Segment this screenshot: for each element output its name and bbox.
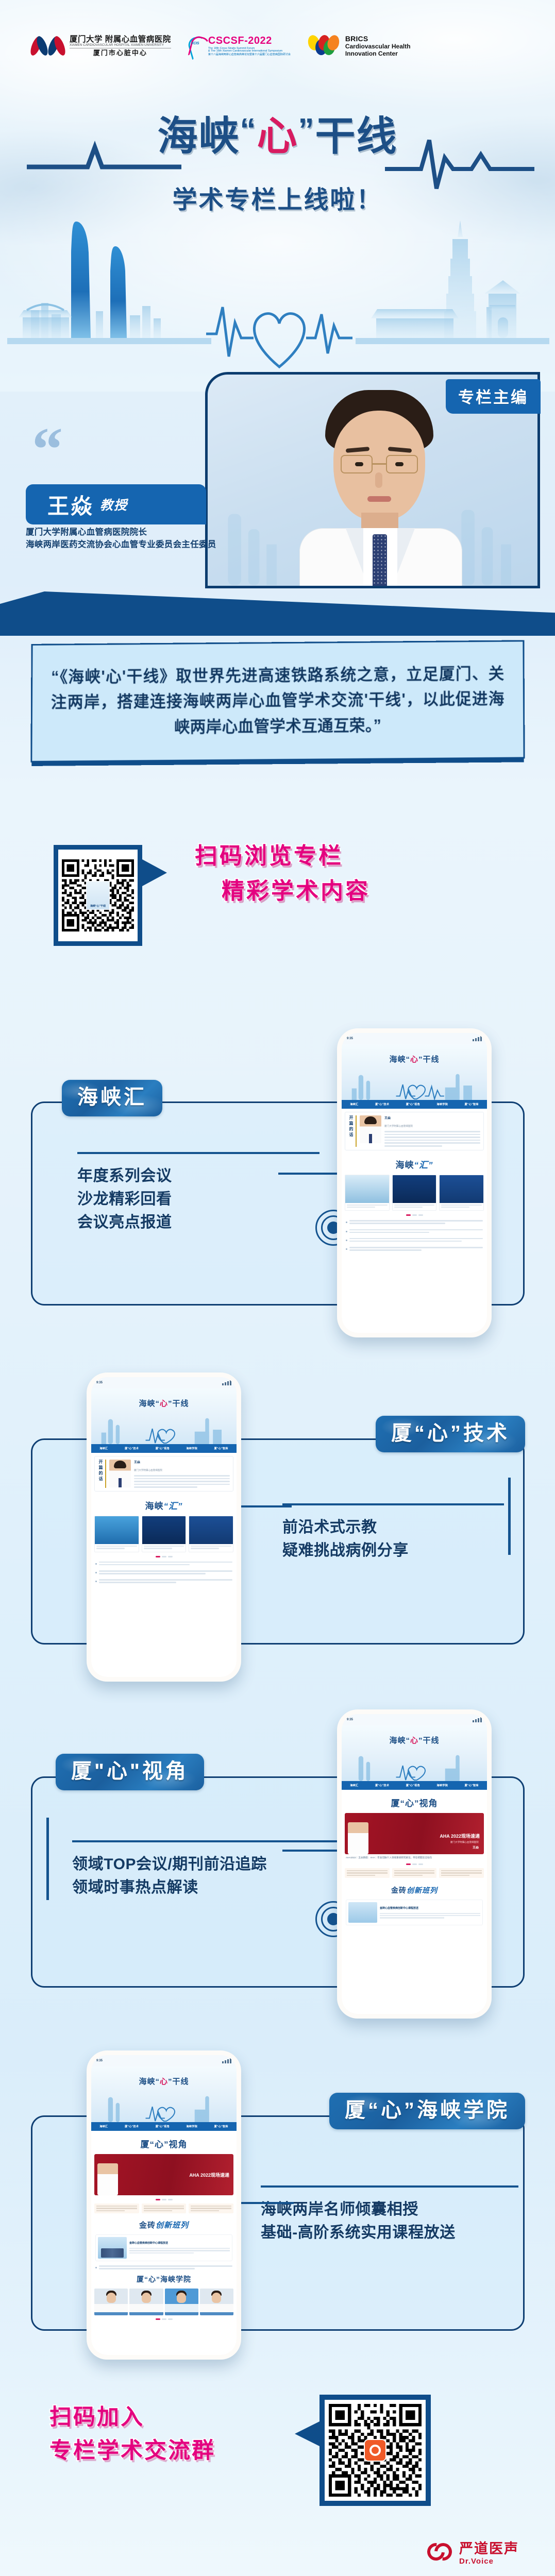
brics-logo-text: BRICS Cardiovascular Health Innovation C… (345, 35, 411, 58)
phone-mini-card-3-1[interactable] (392, 1868, 437, 1878)
phone-nav-item-4-0[interactable]: 海峡汇 (99, 2125, 108, 2128)
phone-card-tag-2: 开篇的话 (98, 1460, 106, 1488)
phone-banner-figure-4 (97, 2163, 118, 2195)
phone-app-title-3: 海峡“心”干线 (342, 1735, 487, 1745)
phone-banner-title-4: AHA 2022现场速递 (189, 2172, 229, 2178)
phone-status-bar-2: 9:35 (91, 1377, 237, 1388)
drvoice-name-en: Dr.Voice (459, 2557, 519, 2566)
cscsf-logo-text: CSCSF-2022 The 18th Cross Straits Summit… (208, 36, 291, 57)
phone-list-item-2-0[interactable] (95, 1562, 232, 1567)
phone-mockup-2: 9:35 海峡“心”干线 海峡汇 厦“心”技术 厦“心”视角 海峡学院 厦“心”… (87, 1372, 241, 1682)
qr-callout-arrow (142, 859, 167, 886)
phone-section-title-2: 海峡“汇” (91, 1499, 237, 1512)
phone-course-card-4[interactable]: 金砖心血管疾病创新中心课程放送 (95, 2234, 232, 2261)
cscsf-title: CSCSF-2022 (208, 36, 291, 46)
phone-section-title-1: 海峡“汇” (342, 1158, 487, 1171)
editor-credential-2: 海峡两岸医药交流协会心血管专业委员会主任委员 (26, 539, 216, 551)
phone-teacher-row-4[interactable] (91, 2289, 237, 2315)
cscsf-heart-icon: XCIS (189, 36, 206, 56)
phone-nav-item-1-0[interactable]: 海峡汇 (350, 1103, 358, 1106)
phone-signal-icon-2 (222, 1380, 231, 1385)
phone-banner-title-3: AHA 2022现场速递 (440, 1833, 480, 1839)
skyline-illustration (0, 216, 555, 371)
phone-card-tag-1: 开篇的话 (348, 1115, 357, 1147)
decorative-quote-mark: “ (32, 428, 63, 471)
xiamen-skyline-group (7, 222, 211, 344)
phone-teacher-0[interactable] (94, 2289, 128, 2315)
footer: 严道医声 Dr.Voice (0, 2540, 555, 2567)
join-cta-line1: 扫码加入 (49, 2401, 215, 2434)
phone-card-row-4[interactable] (91, 2204, 237, 2213)
phone-skyline-4 (91, 2093, 237, 2122)
join-group-qr-block[interactable] (319, 2395, 431, 2506)
phone-nav-item-4-3[interactable]: 海峡学院 (186, 2125, 197, 2128)
phone-signal-icon-4 (222, 2058, 231, 2063)
phone-app-title-1: 海峡“心”干线 (342, 1054, 487, 1064)
phone-banner-caption-3: AHA2022｜王焱教授：AHA｜年会冠脉介入领域重磅研究解读，带您把握前沿动向 (346, 1856, 483, 1860)
phone-academy-title-4: 厦“心”海峡学院 (91, 2274, 237, 2284)
xcis-badge: XCIS (191, 42, 199, 45)
feature-2-bullet-2: 疑难挑战病例分享 (282, 1539, 504, 1562)
feature-bullets-4: 海峡两岸名师倾囊相授 基础-高阶系统实用课程放送 (261, 2185, 518, 2244)
phone-nav-item-2-2[interactable]: 厦“心”视角 (156, 1447, 170, 1450)
editor-credential-1: 厦门大学附属心血管病医院院长 (26, 527, 216, 539)
phone-teacher-3[interactable] (200, 2289, 233, 2315)
editor-name-plate: 王焱 教授 (26, 484, 206, 524)
scan-browse-cta: 扫码浏览专栏 精彩学术内容 (195, 839, 370, 909)
scan-browse-line1: 扫码浏览专栏 (195, 839, 370, 874)
editor-name: 王焱 (47, 489, 94, 520)
ecg-line-left-icon (27, 137, 181, 173)
brics-petals-icon (308, 35, 340, 57)
brics-line1: BRICS (345, 35, 411, 43)
phone-list-item-2-1[interactable] (95, 1570, 232, 1575)
taipei-skyline-group (356, 221, 549, 344)
phone-status-bar-4: 9:35 (91, 2055, 237, 2066)
hospital-sub-name: 厦门市心脏中心 (70, 49, 171, 57)
feature-2-bullet-1: 前沿术式示教 (282, 1516, 504, 1539)
browse-column-qr-block[interactable]: 海峡“心”干线 (54, 845, 142, 946)
phone-banner-4[interactable]: AHA 2022现场速递 (94, 2154, 233, 2195)
phone-grid-2[interactable] (91, 1516, 237, 1552)
phone-mockup-1: 9:35 海峡“心”干线 海峡汇 厦“心”技术 厦“心”视角 海峡学院 厦“心”… (337, 1028, 492, 1337)
mission-quote-card: “《海峡'心'干线》取世界先进高速铁路系统之意，立足厦门、关注两岸，搭建连接海峡… (30, 640, 525, 762)
phone-mini-card-3-0[interactable] (345, 1868, 390, 1878)
header-logo-row: 厦门大学 附属心血管病医院 XIAMEN CARDIOVASCULAR HOSP… (0, 23, 555, 69)
phone-article-list-2[interactable] (91, 1557, 237, 1585)
feature-rule-4 (261, 2185, 518, 2188)
phone-screen-4: 9:35 海峡“心”干线 海峡汇 厦“心”技术 厦“心”视角 海峡学院 厦“心”… (91, 2055, 237, 2355)
phone-header-3: 海峡“心”干线 (342, 1725, 487, 1781)
phone-list-item-4-0[interactable] (95, 2265, 232, 2270)
editor-credentials: 厦门大学附属心血管病医院院长 海峡两岸医药交流协会心血管专业委员会主任委员 (26, 527, 216, 551)
phone-mini-card-4-1[interactable] (142, 2204, 187, 2213)
drvoice-name-cn: 严道医声 (459, 2541, 519, 2557)
editor-title: 教授 (100, 495, 128, 514)
phone-list-item-1-2[interactable] (346, 1238, 483, 1243)
phone-nav-item-1-1[interactable]: 厦“心”技术 (375, 1103, 389, 1106)
phone-list-item-1-3[interactable] (346, 1247, 483, 1252)
phone-screen-3: 9:35 海峡“心”干线 海峡汇 厦“心”技术 厦“心”视角 海峡学院 厦“心”… (342, 1714, 487, 2014)
phone-status-time-4: 9:35 (96, 2059, 103, 2062)
drvoice-logo: 严道医声 Dr.Voice (426, 2540, 519, 2567)
phone-nav-item-2-1[interactable]: 厦“心”技术 (125, 1447, 139, 1450)
editor-portrait (295, 390, 465, 588)
feature-chip-1[interactable]: 海峡汇 (62, 1080, 162, 1116)
hero-quote-open: “ (240, 112, 257, 148)
phone-nav-bar-3[interactable]: 海峡汇 厦“心”技术 厦“心”视角 海峡学院 厦“心”智库 (342, 1781, 487, 1790)
mission-quote-text: “《海峡'心'干线》取世界先进高速铁路系统之意，立足厦门、关注两岸，搭建连接海峡… (51, 662, 505, 741)
phone-nav-item-3-1[interactable]: 厦“心”技术 (375, 1784, 389, 1787)
phone-grid-item-2-2[interactable] (189, 1516, 233, 1552)
phone-header-1: 海峡“心”干线 (342, 1044, 487, 1100)
hospital-logo-icon (31, 35, 66, 57)
phone-grid-item-1-2[interactable] (439, 1175, 484, 1211)
phone-banner-figure-3 (348, 1822, 368, 1854)
join-group-cta: 扫码加入 专栏学术交流群 (49, 2401, 215, 2467)
qr-center-brand-chip: 海峡“心”干线 (86, 881, 110, 910)
browse-qr-frame[interactable]: 海峡“心”干线 (54, 845, 142, 946)
phone-nav-item-3-0[interactable]: 海峡汇 (350, 1784, 358, 1787)
phone-status-bar-1: 9:35 (342, 1033, 487, 1044)
join-cta-line2: 专栏学术交流群 (49, 2434, 215, 2468)
phone-nav-item-1-4[interactable]: 厦“心”智库 (465, 1103, 479, 1106)
phone-carousel-dots-4[interactable] (91, 2199, 237, 2200)
phone-section-title-3: 厦“心”视角 (342, 1796, 487, 1809)
cscsf-line2: & The 16th Xiamen Cardiovascular Interna… (208, 50, 291, 53)
phone-list-item-1-0[interactable] (346, 1220, 483, 1225)
phone-teacher-2[interactable] (165, 2289, 198, 2315)
feature-chip-4[interactable]: 厦“心”海峡学院 (329, 2093, 525, 2129)
phone-banner-3[interactable]: AHA 2022现场速递 厦门大学附属心血管病医院 王焱 (345, 1813, 484, 1854)
phone-section-title-4: 厦“心”视角 (91, 2137, 237, 2150)
hospital-name-cn: 厦门大学 附属心血管病医院 (70, 36, 171, 44)
drvoice-logo-text: 严道医声 Dr.Voice (459, 2541, 519, 2566)
phone-nav-item-3-4[interactable]: 厦“心”智库 (465, 1784, 479, 1787)
phone-intro-card-1[interactable]: 开篇的话 王焱 厦门大学附属心血管病医院 (345, 1112, 484, 1150)
heart-ecg-icon (206, 307, 352, 367)
drvoice-mark-icon (426, 2540, 453, 2567)
phone-carousel-dots-3[interactable] (342, 1863, 487, 1865)
phone-status-time-2: 9:35 (96, 1381, 103, 1384)
phone-header-4: 海峡“心”干线 (91, 2066, 237, 2122)
phone-article-list-4[interactable] (91, 2263, 237, 2270)
hero-quote-close: ” (298, 112, 315, 148)
scan-browse-line2: 精彩学术内容 (222, 874, 370, 909)
phone-skyline-1 (342, 1071, 487, 1100)
phone-mini-card-4-0[interactable] (94, 2204, 139, 2213)
phone-course-card-title-4: 金砖心血管疾病创新中心课程放送 (129, 2242, 168, 2245)
feature-4-bullet-2: 基础-高阶系统实用课程放送 (261, 2221, 518, 2244)
feature-4-bullet-1: 海峡两岸名师倾囊相授 (261, 2198, 518, 2221)
browse-qr-code[interactable]: 海峡“心”干线 (58, 850, 138, 941)
join-qr-frame[interactable] (319, 2395, 431, 2506)
phone-status-bar-3: 9:35 (342, 1714, 487, 1725)
phone-course-title-4: 金砖创新班列 (91, 2219, 237, 2230)
phone-card-avatar-2 (109, 1460, 131, 1487)
phone-banner-sub2-3: 王焱 (473, 1845, 479, 1850)
phone-nav-bar-1[interactable]: 海峡汇 厦“心”技术 厦“心”视角 海峡学院 厦“心”智库 (342, 1100, 487, 1109)
phone-app-title-4: 海峡“心”干线 (91, 2076, 237, 2087)
phone-list-item-1-1[interactable] (346, 1229, 483, 1234)
phone-card-name-2: 王焱 (134, 1460, 230, 1464)
phone-nav-item-2-3[interactable]: 海峡学院 (186, 1447, 197, 1450)
hospital-name-en: XIAMEN CARDIOVASCULAR HOSPITAL XIAMEN UN… (70, 44, 171, 48)
diagonal-blue-band (0, 591, 555, 636)
phone-card-row-3[interactable] (342, 1868, 487, 1878)
phone-mini-card-4-2[interactable] (189, 2204, 233, 2213)
phone-app-title-2: 海峡“心”干线 (91, 1398, 237, 1409)
phone-card-text-2: 王焱 厦门大学附属心血管病医院 (134, 1460, 230, 1488)
cscsf-2022-logo: XCIS CSCSF-2022 The 18th Cross Straits S… (189, 36, 291, 57)
feature-chip-2[interactable]: 厦“心”技术 (376, 1416, 525, 1452)
feature-vertical-bar-2 (508, 1478, 511, 1555)
cscsf-line3: 第十八届海峡两岸心血管病高峰论坛暨第十六届厦门心血管病国际研讨会 (208, 54, 291, 56)
phone-signal-icon-3 (473, 1717, 482, 1722)
feature-3-bullet-2: 领域时事热点解读 (72, 1876, 361, 1899)
join-qr-callout-arrow (295, 2421, 319, 2446)
phone-course-title-3: 金砖创新班列 (342, 1885, 487, 1895)
phone-mockup-3: 9:35 海峡“心”干线 海峡汇 厦“心”技术 厦“心”视角 海峡学院 厦“心”… (337, 1709, 492, 2019)
phone-header-2: 海峡“心”干线 (91, 1388, 237, 1444)
phone-skyline-3 (342, 1752, 487, 1781)
phone-grid-item-1-1[interactable] (392, 1175, 437, 1211)
feature-1-bullet-3: 会议亮点报道 (77, 1211, 319, 1234)
phone-banner-sub1-3: 厦门大学附属心血管病医院 (450, 1841, 479, 1844)
phone-screen-2: 9:35 海峡“心”干线 海峡汇 厦“心”技术 厦“心”视角 海峡学院 厦“心”… (91, 1377, 237, 1677)
phone-nav-item-1-2[interactable]: 厦“心”视角 (406, 1103, 420, 1106)
phone-card-avatar-1 (360, 1115, 381, 1143)
feature-vertical-bar-3 (46, 1818, 49, 1900)
phone-skyline-2 (91, 1415, 237, 1444)
phone-nav-item-1-3[interactable]: 海峡学院 (436, 1103, 448, 1106)
brics-cardiovascular-health-innovation-center-logo: BRICS Cardiovascular Health Innovation C… (308, 35, 411, 58)
phone-signal-icon-1 (473, 1036, 482, 1041)
phone-nav-item-4-2[interactable]: 厦“心”视角 (156, 2125, 170, 2128)
feature-chip-3[interactable]: 厦"心"视角 (56, 1754, 204, 1790)
phone-course-card-3[interactable]: 金砖心血管疾病创新中心课程放送 (346, 1900, 483, 1925)
hero-title-highlight: 心 (257, 113, 298, 159)
phone-grid-item-2-0[interactable] (94, 1516, 139, 1552)
phone-card-name-1: 王焱 (384, 1115, 480, 1120)
ecg-line-right-icon (385, 137, 534, 194)
phone-carousel-dots-4b[interactable] (91, 2318, 237, 2320)
editor-section: 专栏主编 “ 王焱 教授 厦门大学附属心血管病医院院长 海峡两岸医药交流协会心血… (0, 361, 555, 649)
brics-line3: Innovation Center (345, 50, 411, 57)
phone-nav-item-4-4[interactable]: 厦“心”智库 (214, 2125, 228, 2128)
phone-status-time-3: 9:35 (347, 1718, 353, 1721)
feature-1-bullet-2: 沙龙精彩回看 (77, 1188, 319, 1211)
phone-grid-item-2-1[interactable] (142, 1516, 187, 1552)
join-qr-code[interactable] (325, 2400, 426, 2501)
phone-article-list-1[interactable] (342, 1216, 487, 1252)
phone-grid-item-1-0[interactable] (345, 1175, 390, 1211)
phone-card-text-1: 王焱 厦门大学附属心血管病医院 (384, 1115, 480, 1147)
phone-nav-item-3-3[interactable]: 海峡学院 (436, 1784, 448, 1787)
phone-list-item-2-2[interactable] (95, 1579, 232, 1584)
hospital-logo-text: 厦门大学 附属心血管病医院 XIAMEN CARDIOVASCULAR HOSP… (70, 36, 171, 56)
phone-banner-caption-wrap-3: AHA2022｜王焱教授：AHA｜年会冠脉介入领域重磅研究解读，带您把握前沿动向 (342, 1854, 487, 1860)
phone-card-sub-1: 厦门大学附属心血管病医院 (384, 1125, 413, 1127)
phone-teacher-1[interactable] (129, 2289, 163, 2315)
phone-nav-bar-4[interactable]: 海峡汇 厦“心”技术 厦“心”视角 海峡学院 厦“心”智库 (91, 2122, 237, 2131)
phone-nav-item-4-1[interactable]: 厦“心”技术 (125, 2125, 139, 2128)
phone-intro-card-2[interactable]: 开篇的话 王焱 厦门大学附属心血管病医院 (94, 1456, 233, 1492)
phone-card-sub-2: 厦门大学附属心血管病医院 (134, 1469, 162, 1471)
poster-root: 厦门大学 附属心血管病医院 XIAMEN CARDIOVASCULAR HOSP… (0, 0, 555, 2576)
xiamen-cardiovascular-hospital-logo: 厦门大学 附属心血管病医院 XIAMEN CARDIOVASCULAR HOSP… (31, 35, 171, 57)
phone-nav-bar-2[interactable]: 海峡汇 厦“心”技术 厦“心”视角 海峡学院 厦“心”智库 (91, 1444, 237, 1453)
phone-nav-item-2-0[interactable]: 海峡汇 (99, 1447, 108, 1450)
phone-screen-1: 9:35 海峡“心”干线 海峡汇 厦“心”技术 厦“心”视角 海峡学院 厦“心”… (342, 1033, 487, 1333)
phone-nav-item-3-2[interactable]: 厦“心”视角 (406, 1784, 420, 1787)
phone-status-time-1: 9:35 (347, 1037, 353, 1040)
feature-bullets-2: 前沿术式示教 疑难挑战病例分享 (282, 1503, 504, 1562)
phone-mini-card-3-2[interactable] (439, 1868, 484, 1878)
phone-mockup-4: 9:35 海峡“心”干线 海峡汇 厦“心”技术 厦“心”视角 海峡学院 厦“心”… (87, 2050, 241, 2360)
phone-grid-1[interactable] (342, 1175, 487, 1211)
wechat-group-center-icon (364, 2439, 386, 2462)
editor-role-badge: 专栏主编 (446, 379, 541, 414)
phone-nav-item-2-4[interactable]: 厦“心”智库 (214, 1447, 228, 1450)
brics-line2: Cardiovascular Health (345, 43, 411, 50)
feature-rule-2 (282, 1503, 504, 1505)
